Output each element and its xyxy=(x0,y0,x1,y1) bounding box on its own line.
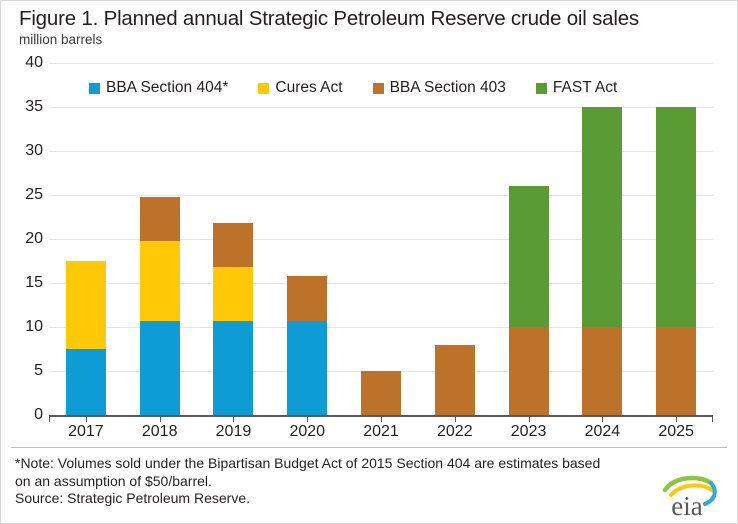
x-axis-tick-label: 2018 xyxy=(123,423,197,441)
y-axis-tick-label: 30 xyxy=(25,143,43,159)
x-axis-tick-mark xyxy=(381,415,382,422)
x-axis-tick-mark xyxy=(160,415,161,422)
x-axis-tick-2024: 2024 xyxy=(565,415,639,443)
y-axis-tick-label: 15 xyxy=(25,275,43,291)
bar-slot-2018 xyxy=(123,63,197,415)
x-axis-tick-mark xyxy=(676,415,677,422)
x-axis-tick-label: 2024 xyxy=(565,423,639,441)
bar-slot-2023 xyxy=(492,63,566,415)
eia-logo: eia xyxy=(651,471,723,517)
plot-area xyxy=(49,63,713,415)
x-axis-tick-label: 2023 xyxy=(492,423,566,441)
bar-segment[interactable] xyxy=(582,107,622,327)
x-axis-tick-2019: 2019 xyxy=(197,415,271,443)
bar-segment[interactable] xyxy=(213,321,253,415)
y-axis-tick-label: 0 xyxy=(34,407,43,423)
y-axis-tick-label: 20 xyxy=(25,231,43,247)
x-axis-tick-mark xyxy=(307,415,308,422)
x-axis-tick-mark xyxy=(602,415,603,422)
x-axis-tick-label: 2017 xyxy=(49,423,123,441)
bar-stack[interactable] xyxy=(213,63,253,415)
bar-stack[interactable] xyxy=(656,63,696,415)
x-axis-tick-2022: 2022 xyxy=(418,415,492,443)
bar-segment[interactable] xyxy=(140,197,180,241)
bar-slot-2019 xyxy=(197,63,271,415)
bar-slot-2021 xyxy=(344,63,418,415)
footnote-line-2: on an assumption of $50/barrel. xyxy=(15,473,655,491)
bar-stack[interactable] xyxy=(435,63,475,415)
bar-series-group xyxy=(49,63,713,415)
x-axis-tick-2025: 2025 xyxy=(639,415,713,443)
x-axis-tick-2021: 2021 xyxy=(344,415,418,443)
figure-container: Figure 1. Planned annual Strategic Petro… xyxy=(0,0,738,524)
bar-segment[interactable] xyxy=(213,267,253,321)
bar-segment[interactable] xyxy=(140,241,180,321)
bar-slot-2025 xyxy=(639,63,713,415)
x-axis-tick-label: 2022 xyxy=(418,423,492,441)
bar-segment[interactable] xyxy=(582,327,622,415)
bar-stack[interactable] xyxy=(287,63,327,415)
bar-slot-2024 xyxy=(565,63,639,415)
bar-segment[interactable] xyxy=(287,276,327,321)
bar-segment[interactable] xyxy=(509,327,549,415)
y-axis-labels: 0510152025303540 xyxy=(1,63,43,415)
bar-slot-2020 xyxy=(270,63,344,415)
footnote: *Note: Volumes sold under the Bipartisan… xyxy=(15,455,655,508)
footer-divider xyxy=(11,447,727,448)
bar-stack[interactable] xyxy=(140,63,180,415)
x-axis-tick-2023: 2023 xyxy=(492,415,566,443)
bar-segment[interactable] xyxy=(509,186,549,327)
bar-segment[interactable] xyxy=(361,371,401,415)
bar-slot-2022 xyxy=(418,63,492,415)
y-axis-tick-label: 5 xyxy=(34,363,43,379)
source-line: Source: Strategic Petroleum Reserve. xyxy=(15,490,655,508)
bar-segment[interactable] xyxy=(656,107,696,327)
x-axis-tick-label: 2020 xyxy=(270,423,344,441)
bar-segment[interactable] xyxy=(66,261,106,349)
bar-stack[interactable] xyxy=(509,63,549,415)
x-axis-tick-2017: 2017 xyxy=(49,415,123,443)
bar-stack[interactable] xyxy=(582,63,622,415)
x-axis-tick-label: 2021 xyxy=(344,423,418,441)
svg-text:eia: eia xyxy=(671,491,702,517)
x-axis-start-cap xyxy=(49,415,50,422)
x-axis: 201720182019202020212022202320242025 xyxy=(49,415,713,443)
bar-stack[interactable] xyxy=(361,63,401,415)
page-title: Figure 1. Planned annual Strategic Petro… xyxy=(19,7,639,31)
x-axis-tick-label: 2025 xyxy=(639,423,713,441)
y-axis-tick-label: 40 xyxy=(25,55,43,71)
bar-segment[interactable] xyxy=(435,345,475,415)
y-axis-tick-label: 10 xyxy=(25,319,43,335)
bar-segment[interactable] xyxy=(66,349,106,415)
x-axis-tick-2020: 2020 xyxy=(270,415,344,443)
y-axis-tick-label: 25 xyxy=(25,187,43,203)
y-axis-tick-label: 35 xyxy=(25,99,43,115)
x-axis-tick-mark xyxy=(233,415,234,422)
bar-slot-2017 xyxy=(49,63,123,415)
bar-segment[interactable] xyxy=(656,327,696,415)
x-axis-tick-2018: 2018 xyxy=(123,415,197,443)
bar-segment[interactable] xyxy=(213,223,253,267)
x-axis-tick-label: 2019 xyxy=(197,423,271,441)
bar-stack[interactable] xyxy=(66,63,106,415)
x-axis-tick-mark xyxy=(529,415,530,422)
bar-segment[interactable] xyxy=(140,321,180,415)
x-axis-tick-mark xyxy=(455,415,456,422)
x-axis-end-cap xyxy=(712,415,713,422)
chart-subtitle: million barrels xyxy=(19,32,102,47)
footnote-line-1: *Note: Volumes sold under the Bipartisan… xyxy=(15,455,655,473)
x-axis-tick-mark xyxy=(86,415,87,422)
bar-segment[interactable] xyxy=(287,321,327,415)
